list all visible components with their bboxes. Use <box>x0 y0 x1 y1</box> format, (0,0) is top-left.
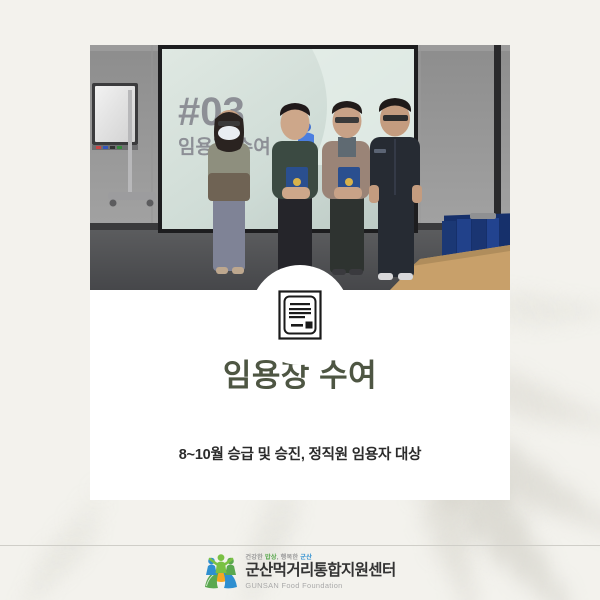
certificate-badge <box>250 265 350 365</box>
content-card: #03 임용장 수여 <box>90 45 510 500</box>
brand-text: 건강한 밥상, 행복한 군산 군산먹거리통합지원센터 GUNSAN Food F… <box>245 555 395 589</box>
footer-logo-bar: 건강한 밥상, 행복한 군산 군산먹거리통합지원센터 GUNSAN Food F… <box>0 540 600 600</box>
certificate-document-icon <box>278 290 322 340</box>
gunsan-food-foundation-logo-icon <box>204 554 238 590</box>
brand-tagline: 건강한 밥상, 행복한 군산 <box>245 555 395 561</box>
tagline-part-1: 건강한 <box>245 554 265 561</box>
brand-name-en: GUNSAN Food Foundation <box>245 582 395 589</box>
tagline-part-3: , 행복한 <box>277 554 300 561</box>
brand-name-kr: 군산먹거리통합지원센터 <box>245 563 395 579</box>
event-photo: #03 임용장 수여 <box>90 45 510 290</box>
photo-person-1 <box>208 110 250 274</box>
tagline-part-2: 밥상 <box>265 554 277 561</box>
brand-logo[interactable]: 건강한 밥상, 행복한 군산 군산먹거리통합지원센터 GUNSAN Food F… <box>204 554 395 590</box>
tagline-part-4: 군산 <box>300 554 312 561</box>
page-subtitle: 8~10월 승급 및 승진, 정직원 임용자 대상 <box>179 443 422 464</box>
event-photo-illustration: #03 임용장 수여 <box>90 45 510 290</box>
